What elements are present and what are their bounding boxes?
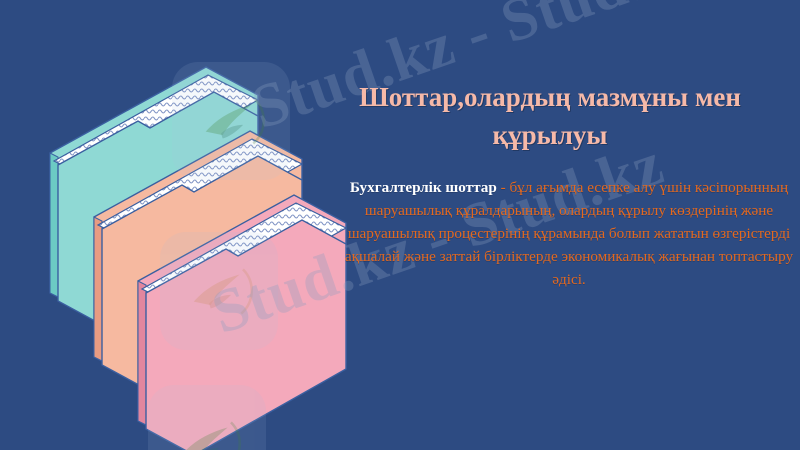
folders-illustration: [18, 45, 348, 375]
slide-title-line-1: Шоттар,олардың мазмұны мен: [300, 78, 800, 116]
presentation-slide: Stud.kz - Stud.kz Stud.kz - Stud.kz Шотт…: [0, 0, 800, 450]
slide-title: Шоттар,олардың мазмұны мен құрылуы: [300, 78, 800, 155]
slide-body-text: Бухгалтерлік шоттар - бұл ағымда есепке …: [338, 176, 800, 291]
body-lead-term: Бухгалтерлік шоттар: [350, 179, 497, 196]
slide-title-line-2: құрылуы: [300, 116, 800, 154]
body-separator: -: [497, 179, 510, 196]
